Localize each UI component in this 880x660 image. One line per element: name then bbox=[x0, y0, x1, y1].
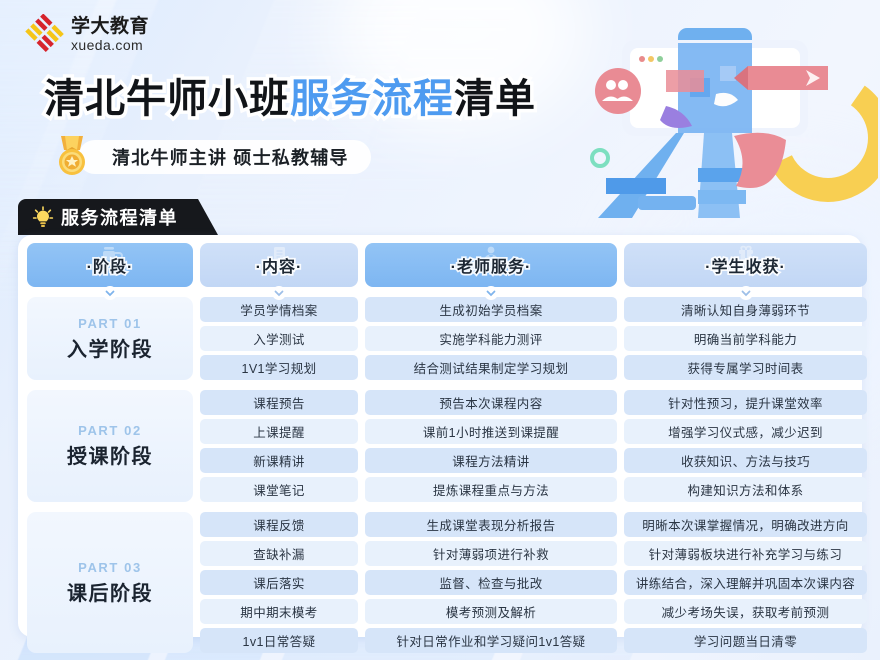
brand-name-cn: 学大教育 bbox=[71, 17, 149, 36]
table-header-teacher-service-label: ·老师服务· bbox=[451, 253, 532, 277]
cell-column-teacher: 预告本次课程内容课前1小时推送到课提醒课程方法精讲提炼课程重点与方法 bbox=[365, 390, 617, 502]
lightbulb-icon bbox=[32, 205, 54, 229]
cell-column-content: 课程预告上课提醒新课精讲课堂笔记 bbox=[200, 390, 358, 502]
table-cell-teacher[interactable]: 提炼课程重点与方法 bbox=[365, 477, 617, 502]
hero-illustration bbox=[578, 28, 878, 233]
stage-cell[interactable]: PART 02授课阶段 bbox=[27, 390, 193, 502]
brand-name-en: xueda.com bbox=[71, 38, 149, 52]
stage-name: 课后阶段 bbox=[67, 577, 153, 606]
chevron-down-icon[interactable] bbox=[269, 286, 289, 300]
table-cell-student[interactable]: 收获知识、方法与技巧 bbox=[624, 448, 867, 473]
table-group: PART 02授课阶段课程预告上课提醒新课精讲课堂笔记预告本次课程内容课前1小时… bbox=[27, 390, 853, 502]
table-cell-teacher[interactable]: 预告本次课程内容 bbox=[365, 390, 617, 415]
table-cell-teacher[interactable]: 结合测试结果制定学习规划 bbox=[365, 355, 617, 380]
table-cell-student[interactable]: 明确当前学科能力 bbox=[624, 326, 867, 351]
table-cell-content[interactable]: 课程预告 bbox=[200, 390, 358, 415]
table-cell-student[interactable]: 明晰本次课掌握情况，明确改进方向 bbox=[624, 512, 867, 537]
subtitle-text: 清北牛师主讲 硕士私教辅导 bbox=[112, 144, 349, 170]
subtitle-pill: 清北牛师主讲 硕士私教辅导 bbox=[78, 140, 371, 174]
table-cell-student[interactable]: 构建知识方法和体系 bbox=[624, 477, 867, 502]
table-header-student-gain-label: ·学生收获· bbox=[705, 253, 786, 277]
table-cell-content[interactable]: 1V1学习规划 bbox=[200, 355, 358, 380]
section-tag: 服务流程清单 bbox=[18, 199, 218, 235]
table-header-student-gain[interactable]: ·学生收获· bbox=[624, 243, 867, 287]
xueda-diamond-logo-icon bbox=[24, 14, 64, 54]
service-flow-table: ·阶段· ·内容· ·老师服务· bbox=[18, 235, 862, 637]
table-cell-teacher[interactable]: 课前1小时推送到课提醒 bbox=[365, 419, 617, 444]
stage-cell[interactable]: PART 01入学阶段 bbox=[27, 297, 193, 380]
stage-name: 入学阶段 bbox=[67, 333, 153, 362]
table-cell-content[interactable]: 1v1日常答疑 bbox=[200, 628, 358, 653]
table-cell-student[interactable]: 减少考场失误，获取考前预测 bbox=[624, 599, 867, 624]
table-cell-student[interactable]: 讲练结合，深入理解并巩固本次课内容 bbox=[624, 570, 867, 595]
table-cell-student[interactable]: 针对薄弱板块进行补充学习与练习 bbox=[624, 541, 867, 566]
page-title-part2: 服务流程 bbox=[290, 77, 454, 121]
page-title-part1: 清北牛师小班 bbox=[44, 77, 290, 121]
table-cell-content[interactable]: 期中期末模考 bbox=[200, 599, 358, 624]
table-cell-content[interactable]: 上课提醒 bbox=[200, 419, 358, 444]
page-title-part3: 清单 bbox=[454, 77, 536, 121]
table-cell-student[interactable]: 学习问题当日清零 bbox=[624, 628, 867, 653]
table-cell-teacher[interactable]: 监督、检查与批改 bbox=[365, 570, 617, 595]
chevron-down-icon[interactable] bbox=[100, 286, 120, 300]
table-cell-student[interactable]: 获得专属学习时间表 bbox=[624, 355, 867, 380]
table-cell-content[interactable]: 查缺补漏 bbox=[200, 541, 358, 566]
table-group: PART 01入学阶段学员学情档案入学测试1V1学习规划生成初始学员档案实施学科… bbox=[27, 297, 853, 380]
cell-column-content: 课程反馈查缺补漏课后落实期中期末模考1v1日常答疑 bbox=[200, 512, 358, 653]
table-header-stage-label: ·阶段· bbox=[87, 253, 134, 277]
table-cell-content[interactable]: 新课精讲 bbox=[200, 448, 358, 473]
table-cell-teacher[interactable]: 针对薄弱项进行补救 bbox=[365, 541, 617, 566]
gold-medal-icon bbox=[50, 134, 94, 180]
page-title: 清北牛师小班服务流程清单 bbox=[44, 66, 536, 124]
cell-column-teacher: 生成初始学员档案实施学科能力测评结合测试结果制定学习规划 bbox=[365, 297, 617, 380]
stage-name: 授课阶段 bbox=[67, 440, 153, 469]
chevron-down-icon[interactable] bbox=[736, 286, 756, 300]
table-cell-student[interactable]: 清晰认知自身薄弱环节 bbox=[624, 297, 867, 322]
table-body: PART 01入学阶段学员学情档案入学测试1V1学习规划生成初始学员档案实施学科… bbox=[27, 297, 853, 653]
table-header-teacher-service[interactable]: ·老师服务· bbox=[365, 243, 617, 287]
cell-column-content: 学员学情档案入学测试1V1学习规划 bbox=[200, 297, 358, 380]
table-cell-content[interactable]: 课后落实 bbox=[200, 570, 358, 595]
section-tag-text: 服务流程清单 bbox=[61, 204, 178, 230]
cell-column-teacher: 生成课堂表现分析报告针对薄弱项进行补救监督、检查与批改模考预测及解析针对日常作业… bbox=[365, 512, 617, 653]
table-cell-student[interactable]: 增强学习仪式感，减少迟到 bbox=[624, 419, 867, 444]
table-header-row: ·阶段· ·内容· ·老师服务· bbox=[27, 243, 853, 287]
table-cell-content[interactable]: 课堂笔记 bbox=[200, 477, 358, 502]
table-cell-student[interactable]: 针对性预习，提升课堂效率 bbox=[624, 390, 867, 415]
table-cell-teacher[interactable]: 实施学科能力测评 bbox=[365, 326, 617, 351]
table-cell-teacher[interactable]: 针对日常作业和学习疑问1v1答疑 bbox=[365, 628, 617, 653]
chevron-down-icon[interactable] bbox=[481, 286, 501, 300]
table-header-content[interactable]: ·内容· bbox=[200, 243, 358, 287]
brand-logo: 学大教育 xueda.com bbox=[24, 14, 149, 54]
table-cell-teacher[interactable]: 课程方法精讲 bbox=[365, 448, 617, 473]
part-number: PART 03 bbox=[78, 560, 142, 575]
cell-column-student: 清晰认知自身薄弱环节明确当前学科能力获得专属学习时间表 bbox=[624, 297, 867, 380]
table-cell-content[interactable]: 入学测试 bbox=[200, 326, 358, 351]
table-cell-content[interactable]: 课程反馈 bbox=[200, 512, 358, 537]
stage-cell[interactable]: PART 03课后阶段 bbox=[27, 512, 193, 653]
cell-column-student: 明晰本次课掌握情况，明确改进方向针对薄弱板块进行补充学习与练习讲练结合，深入理解… bbox=[624, 512, 867, 653]
part-number: PART 01 bbox=[78, 316, 142, 331]
cell-column-student: 针对性预习，提升课堂效率增强学习仪式感，减少迟到收获知识、方法与技巧构建知识方法… bbox=[624, 390, 867, 502]
table-header-content-label: ·内容· bbox=[256, 253, 303, 277]
table-cell-content[interactable]: 学员学情档案 bbox=[200, 297, 358, 322]
table-group: PART 03课后阶段课程反馈查缺补漏课后落实期中期末模考1v1日常答疑生成课堂… bbox=[27, 512, 853, 653]
part-number: PART 02 bbox=[78, 423, 142, 438]
table-cell-teacher[interactable]: 模考预测及解析 bbox=[365, 599, 617, 624]
table-cell-teacher[interactable]: 生成课堂表现分析报告 bbox=[365, 512, 617, 537]
table-cell-teacher[interactable]: 生成初始学员档案 bbox=[365, 297, 617, 322]
table-header-stage[interactable]: ·阶段· bbox=[27, 243, 193, 287]
